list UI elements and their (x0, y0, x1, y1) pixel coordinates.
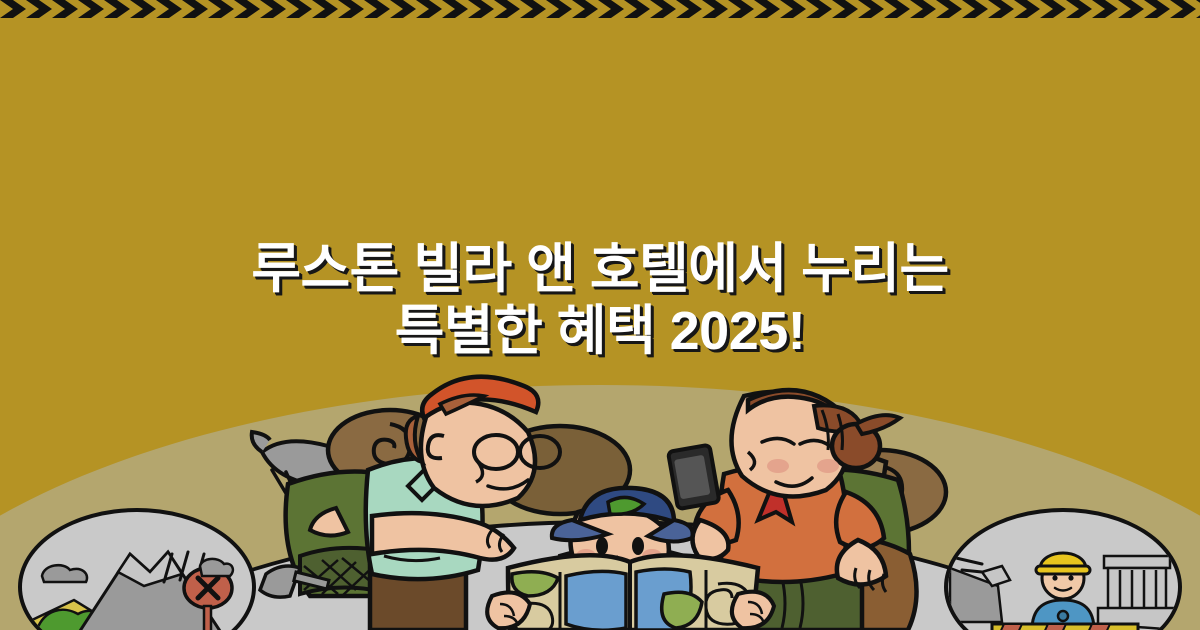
cloud-icon (42, 565, 87, 582)
cloud-icon-2 (200, 559, 233, 576)
mountain-warning-illustration (22, 512, 252, 630)
title-line-1: 루스톤 빌라 앤 호텔에서 누리는 (0, 238, 1200, 300)
hard-hat-brim-icon (1036, 566, 1090, 574)
mountain-warning-badge (18, 508, 256, 630)
motion-lines-icon (956, 558, 982, 572)
chevron-tape-border (0, 0, 1200, 18)
construction-illustration (948, 512, 1178, 630)
page-title: 루스톤 빌라 앤 호텔에서 누리는 특별한 혜택 2025! (0, 238, 1200, 362)
sign-post-icon (204, 606, 211, 630)
barricade-stripes-icon (990, 624, 1110, 630)
building-roof-icon (1104, 556, 1170, 568)
travel-promo-banner: 루스톤 빌라 앤 호텔에서 누리는 특별한 혜택 2025! (0, 0, 1200, 630)
worker-button-icon (1058, 611, 1068, 621)
construction-worker-badge (944, 508, 1182, 630)
chevron-pattern-icon (0, 0, 1200, 18)
title-line-2: 특별한 혜택 2025! (0, 300, 1200, 362)
